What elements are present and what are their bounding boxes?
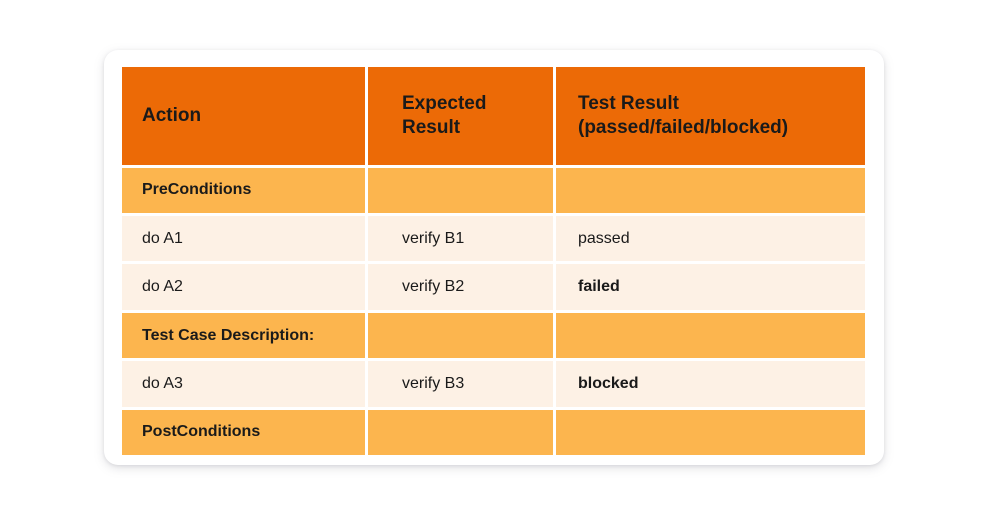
table-cell-expected-result-text: verify B1 (402, 230, 464, 248)
column-header-action: Action (122, 67, 365, 165)
table-cell-expected-result (368, 410, 553, 455)
table-cell-action: do A3 (122, 361, 365, 406)
table-cell-expected-result (368, 168, 553, 213)
table-header-row: Action Expected Result Test Result (pass… (122, 67, 865, 165)
table-cell-action-text: PostConditions (142, 423, 260, 441)
table-cell-test-result (556, 168, 865, 213)
table-cell-test-result-text: failed (578, 278, 620, 296)
table-cell-action-text: do A3 (142, 375, 183, 393)
column-header-action-label: Action (142, 104, 201, 128)
table-cell-action: PreConditions (122, 168, 365, 213)
table-cell-test-result (556, 313, 865, 358)
table-row: do A2 verify B2 failed (122, 264, 865, 309)
table-cell-action: do A1 (122, 216, 365, 261)
table-cell-action-text: Test Case Description: (142, 327, 314, 345)
table-cell-expected-result: verify B3 (368, 361, 553, 406)
column-header-expected-result: Expected Result (368, 67, 553, 165)
table-row: PostConditions (122, 410, 865, 455)
table-cell-action-text: PreConditions (142, 181, 251, 199)
table-row: do A1 verify B1 passed (122, 216, 865, 261)
table-cell-action-text: do A1 (142, 230, 183, 248)
table-cell-action-text: do A2 (142, 278, 183, 296)
table-cell-test-result-text: passed (578, 230, 630, 248)
column-header-test-result: Test Result (passed/failed/blocked) (556, 67, 865, 165)
table-cell-expected-result-text: verify B2 (402, 278, 464, 296)
table-cell-expected-result-text: verify B3 (402, 375, 464, 393)
table-cell-test-result: blocked (556, 361, 865, 406)
table-row: PreConditions (122, 168, 865, 213)
table-cell-expected-result: verify B2 (368, 264, 553, 309)
table-row: do A3 verify B3 blocked (122, 361, 865, 406)
table-cell-expected-result (368, 313, 553, 358)
table-cell-test-result: passed (556, 216, 865, 261)
table-cell-test-result-text: blocked (578, 375, 638, 393)
table-cell-action: Test Case Description: (122, 313, 365, 358)
test-case-table: Action Expected Result Test Result (pass… (122, 67, 865, 455)
table-cell-action: PostConditions (122, 410, 365, 455)
table-cell-action: do A2 (122, 264, 365, 309)
table-row: Test Case Description: (122, 313, 865, 358)
column-header-test-result-label: Test Result (passed/failed/blocked) (578, 92, 788, 139)
test-case-card: Action Expected Result Test Result (pass… (104, 50, 884, 465)
table-cell-test-result (556, 410, 865, 455)
table-cell-test-result: failed (556, 264, 865, 309)
table-cell-expected-result: verify B1 (368, 216, 553, 261)
column-header-expected-result-label: Expected Result (402, 92, 486, 139)
